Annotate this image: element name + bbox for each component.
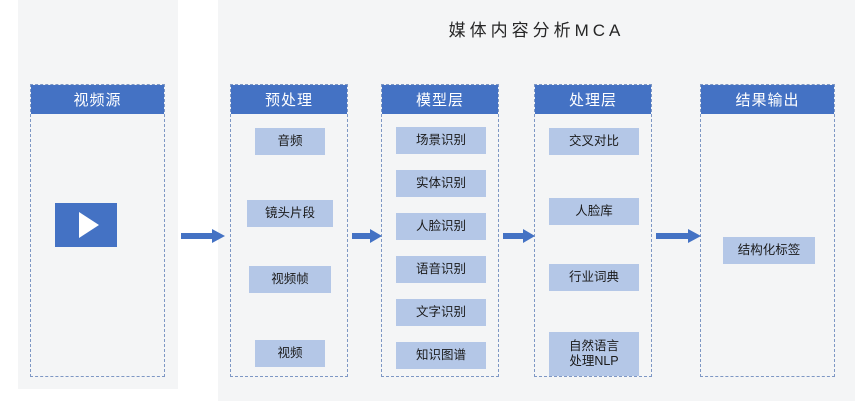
column-header-video-source: 视频源 (31, 85, 164, 114)
column-processing-layer: 处理层 交叉对比 人脸库 行业词典 自然语言 处理NLP (534, 84, 652, 377)
arrow-right-icon (352, 229, 382, 243)
column-video-source: 视频源 (30, 84, 165, 377)
list-item[interactable]: 人脸库 (549, 198, 639, 225)
play-triangle-glyph (79, 212, 99, 238)
list-item[interactable]: 视频帧 (249, 266, 331, 293)
column-body-model-layer: 场景识别 实体识别 人脸识别 语音识别 文字识别 知识图谱 (382, 114, 498, 376)
list-item[interactable]: 镜头片段 (247, 200, 333, 227)
column-body-preprocessing: 音频 镜头片段 视频帧 视频 (231, 114, 347, 376)
column-header-model-layer: 模型层 (382, 85, 498, 114)
column-body-result-output: 结构化标签 (701, 114, 834, 376)
list-item[interactable]: 视频 (255, 340, 325, 367)
list-item[interactable]: 行业词典 (549, 264, 639, 291)
column-body-processing-layer: 交叉对比 人脸库 行业词典 自然语言 处理NLP (535, 114, 651, 376)
list-item[interactable]: 自然语言 处理NLP (549, 332, 639, 376)
column-preprocessing: 预处理 音频 镜头片段 视频帧 视频 (230, 84, 348, 377)
column-result-output: 结果输出 结构化标签 (700, 84, 835, 377)
arrow-right-icon (181, 229, 225, 243)
list-item[interactable]: 交叉对比 (549, 128, 639, 155)
list-item[interactable]: 结构化标签 (723, 237, 815, 264)
column-header-processing-layer: 处理层 (535, 85, 651, 114)
list-item[interactable]: 文字识别 (396, 299, 486, 326)
column-header-result-output: 结果输出 (701, 85, 834, 114)
column-model-layer: 模型层 场景识别 实体识别 人脸识别 语音识别 文字识别 知识图谱 (381, 84, 499, 377)
arrow-right-icon (503, 229, 535, 243)
arrow-right-icon (656, 229, 701, 243)
page-title: 媒体内容分析MCA (218, 16, 855, 41)
list-item[interactable]: 语音识别 (396, 256, 486, 283)
list-item[interactable]: 人脸识别 (396, 213, 486, 240)
play-icon (55, 203, 117, 247)
column-header-preprocessing: 预处理 (231, 85, 347, 114)
column-body-video-source (31, 114, 164, 376)
diagram-canvas: 媒体内容分析MCA 视频源 预处理 音频 镜头片段 视频帧 视频 模型层 场景识… (0, 0, 859, 411)
list-item[interactable]: 音频 (255, 128, 325, 155)
list-item[interactable]: 知识图谱 (396, 342, 486, 369)
list-item[interactable]: 场景识别 (396, 127, 486, 154)
list-item[interactable]: 实体识别 (396, 170, 486, 197)
